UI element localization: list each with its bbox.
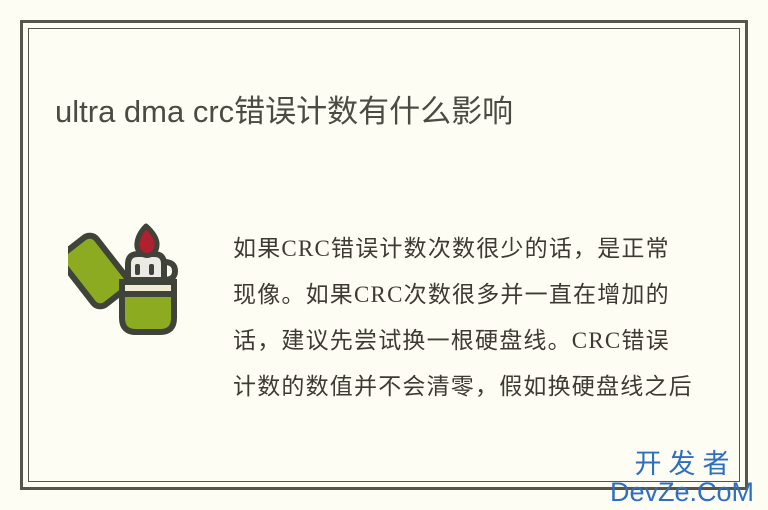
page-title: ultra dma crc错误计数有什么影响 xyxy=(55,87,695,137)
page-content: ultra dma crc错误计数有什么影响 xyxy=(0,0,768,510)
watermark-chinese-label: 开发者 xyxy=(598,450,766,478)
lighter-icon xyxy=(68,216,198,346)
watermark-domain-label: DevZe.CoM xyxy=(598,478,766,507)
watermark: 开发者 DevZe.CoM xyxy=(598,450,766,508)
article-body-section: 如果CRC错误计数次数很少的话，是正常现像。如果CRC次数很多并一直在增加的话，… xyxy=(55,198,705,450)
article-paragraph: 如果CRC错误计数次数很少的话，是正常现像。如果CRC次数很多并一直在增加的话，… xyxy=(233,226,693,410)
page-root: ultra dma crc错误计数有什么影响 xyxy=(0,0,768,510)
